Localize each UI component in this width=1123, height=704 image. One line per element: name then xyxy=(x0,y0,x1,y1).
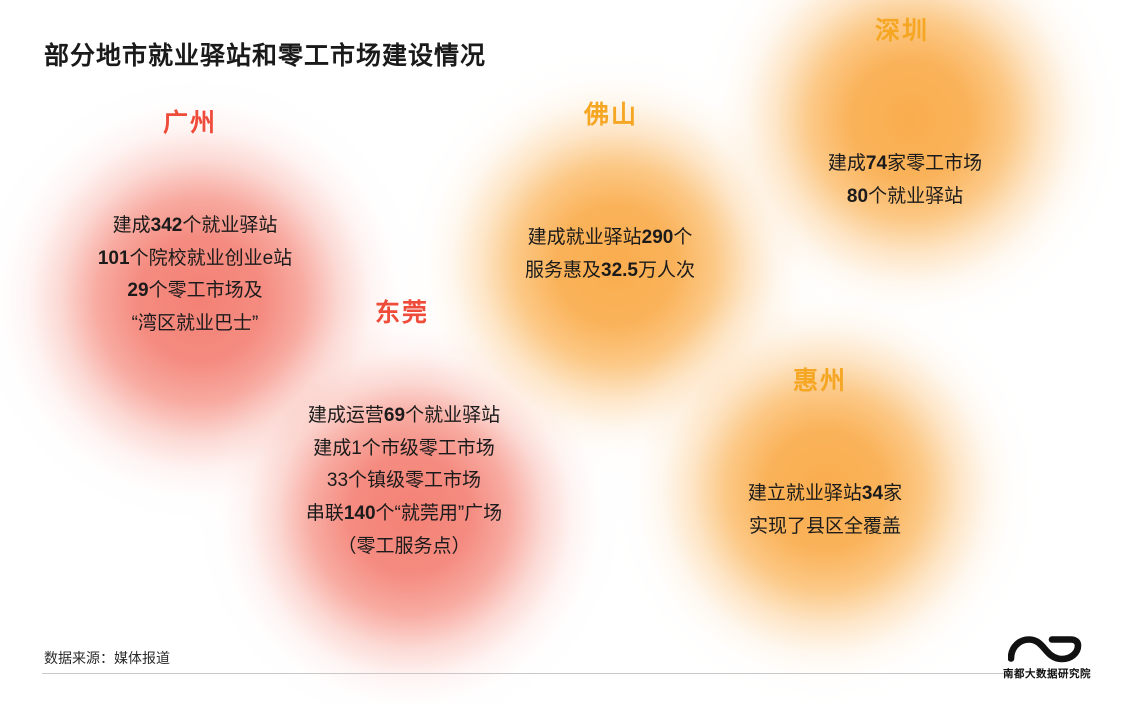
stat-text: 建成就业驿站 xyxy=(528,227,642,248)
stat-text: 万人次 xyxy=(638,260,695,281)
city-stats-shenzhen: 建成74家零工市场80个就业驿站 xyxy=(760,148,1050,213)
stat-value: 69 xyxy=(384,405,405,426)
stat-value: 140 xyxy=(344,503,376,524)
stat-line: （零工服务点） xyxy=(229,531,579,564)
city-group-foshan: 佛山 xyxy=(531,100,691,130)
stat-text: 家 xyxy=(883,483,902,504)
city-label-foshan: 佛山 xyxy=(531,100,691,130)
stat-text: 家零工市场 xyxy=(887,153,982,174)
stat-line: 建成就业驿站290个 xyxy=(460,222,760,255)
stat-text: 建成1个市级零工市场 xyxy=(313,438,495,459)
wave-mark-icon xyxy=(1001,634,1093,664)
stat-value: 74 xyxy=(866,153,887,174)
city-group-dongguan: 东莞 xyxy=(322,298,482,328)
stat-text: 串联 xyxy=(306,503,344,524)
data-source-note: 数据来源：媒体报道 xyxy=(44,648,170,668)
publisher-name: 南都大数据研究院 xyxy=(1001,666,1093,681)
city-label-dongguan: 东莞 xyxy=(322,298,482,328)
city-stats-foshan: 建成就业驿站290个服务惠及32.5万人次 xyxy=(460,222,760,287)
city-stats-huizhou: 建立就业驿站34家实现了县区全覆盖 xyxy=(680,478,970,543)
stat-text: 个院校就业创业e站 xyxy=(130,248,293,269)
infographic-canvas: 部分地市就业驿站和零工市场建设情况 广州 建成342个就业驿站101个院校就业创… xyxy=(0,0,1123,704)
stat-text: “湾区就业巴士” xyxy=(132,313,259,334)
city-group-shenzhen: 深圳 xyxy=(822,16,982,46)
stat-line: 服务惠及32.5万人次 xyxy=(460,255,760,288)
stat-line: 建成342个就业驿站 xyxy=(30,210,360,243)
stat-text: 建成 xyxy=(113,215,151,236)
footer-divider xyxy=(42,673,1005,674)
city-stats-guangzhou: 建成342个就业驿站101个院校就业创业e站29个零工市场及“湾区就业巴士” xyxy=(30,210,360,341)
stat-text: 个就业驿站 xyxy=(182,215,277,236)
stat-line: 串联140个“就莞用”广场 xyxy=(229,498,579,531)
stat-text: 个零工市场及 xyxy=(149,280,263,301)
stat-text: 个 xyxy=(673,227,692,248)
stat-value: 290 xyxy=(642,227,674,248)
stat-value: 80 xyxy=(847,186,868,207)
publisher-logo: 南都大数据研究院 xyxy=(1001,634,1093,681)
stat-text: 建立就业驿站 xyxy=(748,483,862,504)
stat-text: 服务惠及 xyxy=(525,260,601,281)
city-label-huizhou: 惠州 xyxy=(740,366,900,396)
stat-value: 29 xyxy=(127,280,148,301)
city-label-shenzhen: 深圳 xyxy=(822,16,982,46)
stat-line: 29个零工市场及 xyxy=(30,275,360,308)
stat-text: （零工服务点） xyxy=(337,536,470,557)
city-stats-dongguan: 建成运营69个就业驿站建成1个市级零工市场33个镇级零工市场串联140个“就莞用… xyxy=(229,400,579,563)
stat-value: 342 xyxy=(151,215,183,236)
stat-text: 建成 xyxy=(828,153,866,174)
stat-value: 101 xyxy=(98,248,130,269)
stat-text: 实现了县区全覆盖 xyxy=(749,516,901,537)
stat-text: 个就业驿站 xyxy=(405,405,500,426)
page-title: 部分地市就业驿站和零工市场建设情况 xyxy=(44,36,486,72)
stat-line: 建成1个市级零工市场 xyxy=(229,433,579,466)
city-group-huizhou: 惠州 xyxy=(740,366,900,396)
stat-line: 80个就业驿站 xyxy=(760,181,1050,214)
stat-line: 建立就业驿站34家 xyxy=(680,478,970,511)
stat-line: 33个镇级零工市场 xyxy=(229,465,579,498)
stat-value: 34 xyxy=(862,483,883,504)
city-group-guangzhou: 广州 xyxy=(110,108,270,138)
stat-line: 101个院校就业创业e站 xyxy=(30,243,360,276)
stat-text: 33个镇级零工市场 xyxy=(327,470,481,491)
stat-line: 实现了县区全覆盖 xyxy=(680,511,970,544)
city-label-guangzhou: 广州 xyxy=(110,108,270,138)
stat-text: 建成运营 xyxy=(308,405,384,426)
stat-text: 个“就莞用”广场 xyxy=(376,503,503,524)
stat-line: “湾区就业巴士” xyxy=(30,308,360,341)
stat-value: 32.5 xyxy=(601,260,638,281)
stat-line: 建成运营69个就业驿站 xyxy=(229,400,579,433)
stat-text: 个就业驿站 xyxy=(868,186,963,207)
stat-line: 建成74家零工市场 xyxy=(760,148,1050,181)
